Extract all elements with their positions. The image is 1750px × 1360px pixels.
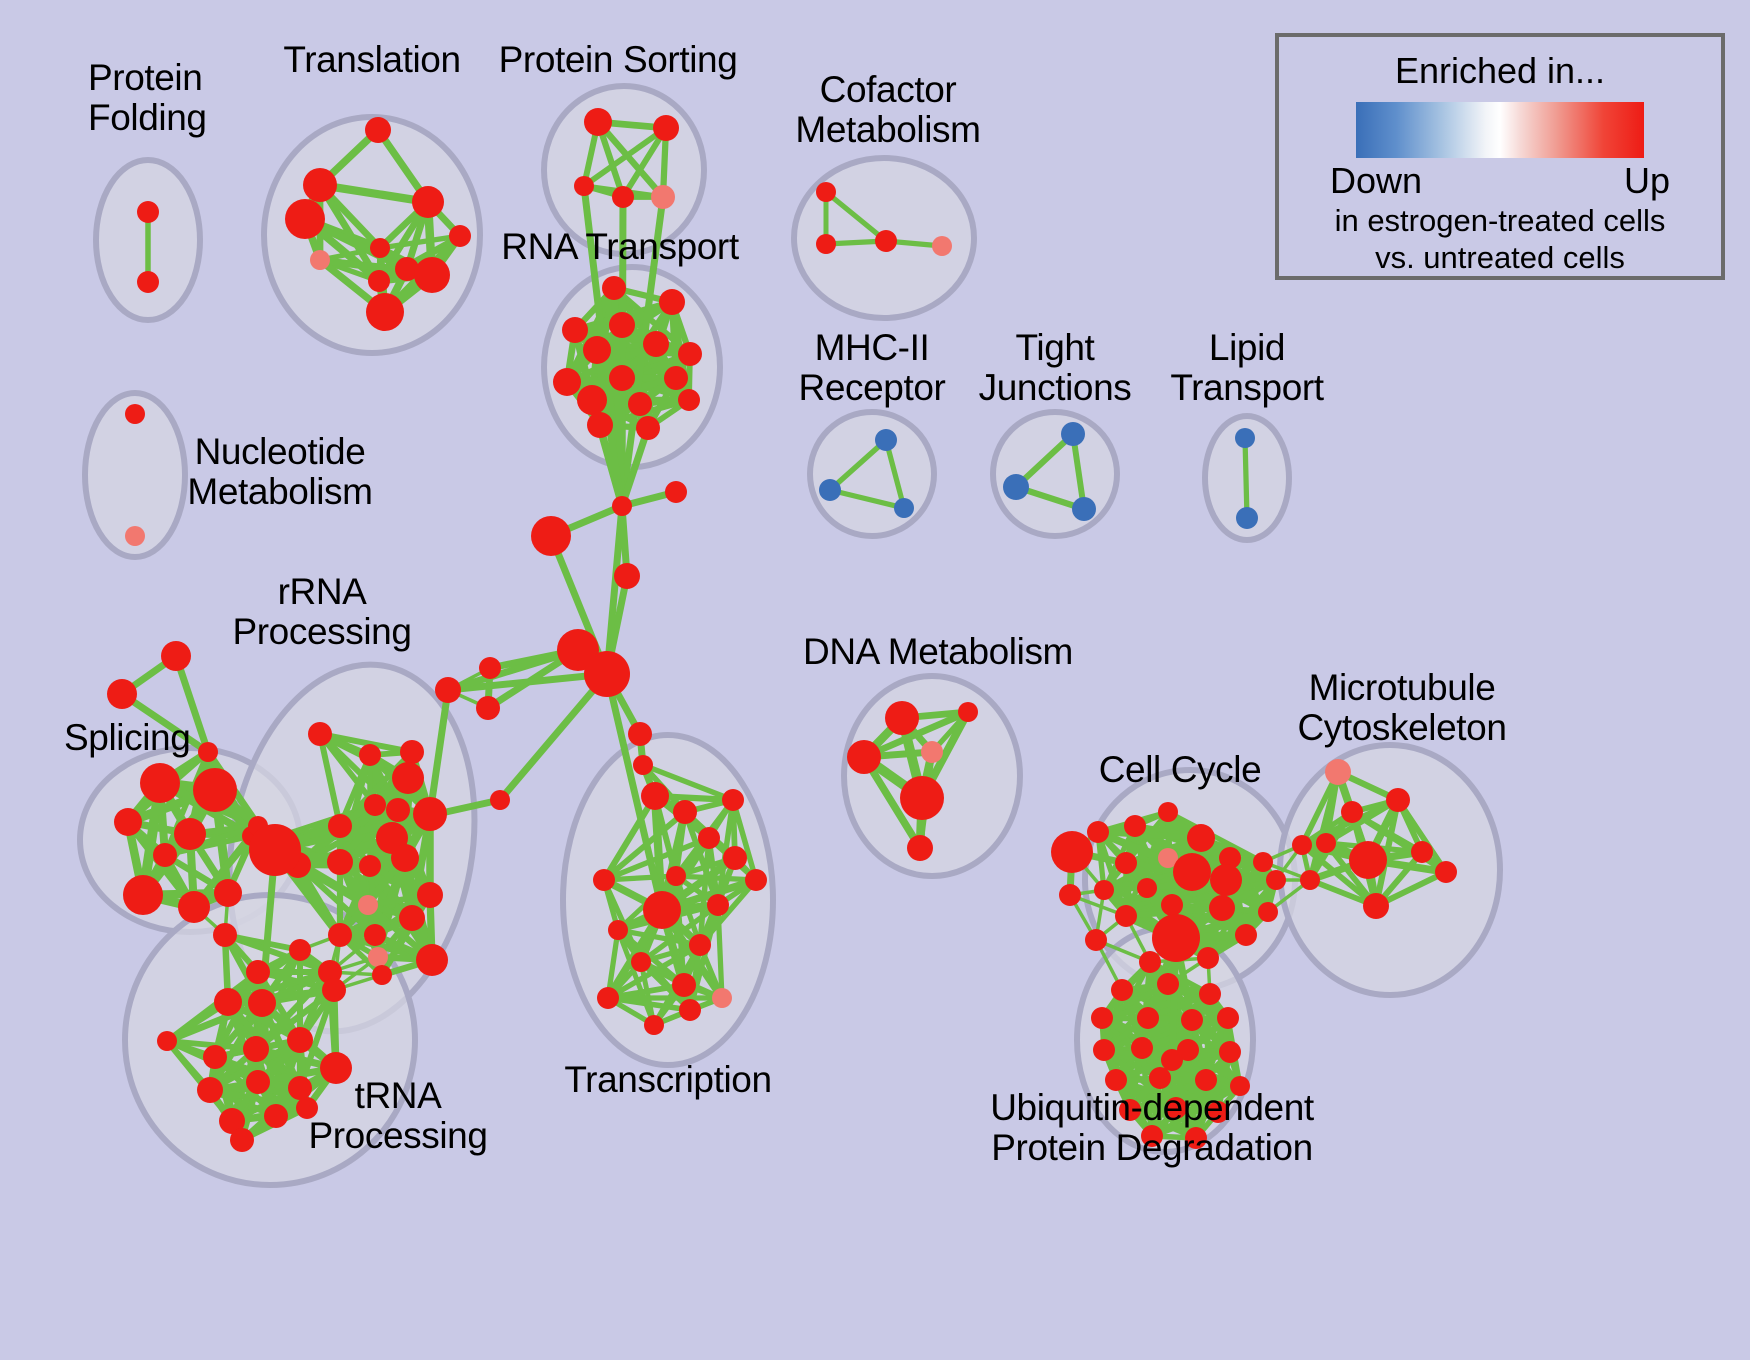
network-node: [643, 331, 669, 357]
network-node: [689, 934, 711, 956]
network-node: [289, 939, 311, 961]
cluster-label-tight-junctions: TightJunctions: [979, 328, 1132, 408]
network-node: [932, 236, 952, 256]
network-node: [1139, 951, 1161, 973]
network-node: [653, 115, 679, 141]
network-node: [368, 947, 388, 967]
network-node: [1253, 852, 1273, 872]
cluster-label-line: Junctions: [979, 368, 1132, 408]
network-node: [1435, 861, 1457, 883]
network-node: [391, 844, 419, 872]
network-node: [531, 516, 571, 556]
cluster-label-lipid-transport: LipidTransport: [1170, 328, 1323, 408]
network-node: [1235, 428, 1255, 448]
network-node: [1111, 979, 1133, 1001]
cluster-label-protein-folding: ProteinFolding: [88, 58, 207, 138]
network-node: [123, 875, 163, 915]
network-node: [1085, 929, 1107, 951]
network-node: [1131, 1037, 1153, 1059]
network-node: [633, 755, 653, 775]
network-node: [1158, 802, 1178, 822]
network-node: [553, 368, 581, 396]
network-node: [365, 117, 391, 143]
cluster-label-line: Ubiquitin-dependent: [990, 1088, 1314, 1128]
cluster-label-line: Splicing: [64, 718, 190, 758]
network-node: [1210, 864, 1242, 896]
network-node: [609, 365, 635, 391]
network-node: [386, 798, 410, 822]
network-node: [449, 225, 471, 247]
network-node: [1003, 474, 1029, 500]
network-node: [157, 1031, 177, 1051]
network-node: [400, 740, 424, 764]
network-node: [587, 412, 613, 438]
network-node: [137, 201, 159, 223]
network-node: [1219, 1041, 1241, 1063]
network-node: [1093, 1039, 1115, 1061]
cluster-label-rrna-processing: rRNAProcessing: [232, 572, 411, 652]
network-node: [285, 199, 325, 239]
network-node: [125, 404, 145, 424]
network-node: [249, 824, 301, 876]
network-node: [364, 924, 386, 946]
network-node: [672, 973, 696, 997]
network-node: [1199, 983, 1221, 1005]
network-node: [248, 989, 276, 1017]
network-node: [322, 978, 346, 1002]
network-node: [174, 818, 206, 850]
network-node: [1087, 821, 1109, 843]
network-node: [1061, 422, 1085, 446]
network-node: [664, 366, 688, 390]
network-node: [1181, 1009, 1203, 1031]
cluster-label-line: rRNA: [232, 572, 411, 612]
network-node: [577, 385, 607, 415]
network-node: [907, 835, 933, 861]
cluster-label-line: Cytoskeleton: [1297, 708, 1506, 748]
network-node: [1072, 497, 1096, 521]
network-node: [636, 416, 660, 440]
cluster-label-line: Transport: [1170, 368, 1323, 408]
network-node: [894, 498, 914, 518]
cluster-label-line: Lipid: [1170, 328, 1323, 368]
network-node: [193, 768, 237, 812]
network-node: [875, 429, 897, 451]
network-node: [609, 312, 635, 338]
cluster-label-line: MHC-II: [799, 328, 946, 368]
network-node: [614, 563, 640, 589]
network-node: [816, 182, 836, 202]
cluster-label-splicing: Splicing: [64, 718, 190, 758]
network-node: [679, 999, 701, 1021]
cluster-label-line: RNA Transport: [501, 227, 738, 267]
cluster-label-line: Protein: [88, 58, 207, 98]
network-node: [413, 797, 447, 831]
network-node: [1115, 852, 1137, 874]
network-node: [178, 891, 210, 923]
network-node: [612, 496, 632, 516]
network-node: [1051, 831, 1093, 873]
network-node: [628, 392, 652, 416]
network-node: [1341, 801, 1363, 823]
network-node: [1115, 905, 1137, 927]
network-node: [659, 289, 685, 315]
cluster-label-line: Tight: [979, 328, 1132, 368]
cluster-label-line: Microtubule: [1297, 668, 1506, 708]
network-node: [608, 920, 628, 940]
cluster-label-line: Protein Sorting: [499, 40, 738, 80]
network-node: [416, 944, 448, 976]
network-node: [137, 271, 159, 293]
network-node: [125, 526, 145, 546]
network-node: [490, 790, 510, 810]
network-node: [1209, 895, 1235, 921]
legend-down-label: Down: [1330, 160, 1422, 202]
cluster-label-line: Transcription: [564, 1060, 771, 1100]
network-node: [243, 1036, 269, 1062]
network-node: [602, 276, 626, 300]
network-node: [308, 722, 332, 746]
network-node: [900, 776, 944, 820]
network-node: [214, 988, 242, 1016]
network-node: [1292, 835, 1312, 855]
cluster-label-line: Translation: [283, 40, 460, 80]
network-node: [1161, 1049, 1183, 1071]
cluster-label-translation: Translation: [283, 40, 460, 80]
network-node: [1091, 1007, 1113, 1029]
cluster-label-line: Receptor: [799, 368, 946, 408]
network-node: [1161, 894, 1183, 916]
network-node: [476, 696, 500, 720]
network-node: [665, 481, 687, 503]
cluster-ellipse-tight-junctions: [993, 412, 1117, 536]
network-node: [246, 960, 270, 984]
network-node: [230, 1128, 254, 1152]
network-node: [612, 186, 634, 208]
network-node: [723, 846, 747, 870]
network-node: [435, 677, 461, 703]
cluster-label-line: Metabolism: [795, 110, 980, 150]
network-node: [678, 389, 700, 411]
network-node: [1235, 924, 1257, 946]
network-node: [287, 1027, 313, 1053]
network-node: [921, 741, 943, 763]
legend-color-bar: [1356, 102, 1644, 158]
network-node: [198, 742, 218, 762]
network-node: [214, 879, 242, 907]
network-node: [479, 657, 501, 679]
network-node: [631, 952, 651, 972]
network-node: [1124, 815, 1146, 837]
cluster-label-nucleotide-metabolism: NucleotideMetabolism: [187, 432, 372, 512]
legend-up-label: Up: [1624, 160, 1670, 202]
network-node: [1325, 759, 1351, 785]
cluster-label-line: Cell Cycle: [1099, 750, 1262, 790]
network-node: [1316, 833, 1336, 853]
network-node: [745, 869, 767, 891]
network-node: [246, 1070, 270, 1094]
cluster-label-line: Metabolism: [187, 472, 372, 512]
network-node: [1137, 1007, 1159, 1029]
network-node: [1157, 973, 1179, 995]
cluster-label-ubiquitin-protein-degradation: Ubiquitin-dependentProtein Degradation: [990, 1088, 1314, 1168]
network-node: [358, 895, 378, 915]
network-node: [584, 108, 612, 136]
network-node: [328, 814, 352, 838]
network-node: [562, 317, 588, 343]
network-node: [1187, 824, 1215, 852]
network-node: [412, 186, 444, 218]
network-node: [1197, 947, 1219, 969]
network-node: [1152, 914, 1200, 962]
network-node: [722, 789, 744, 811]
network-node: [327, 849, 353, 875]
network-node: [1363, 893, 1389, 919]
network-node: [1173, 853, 1211, 891]
network-node: [651, 185, 675, 209]
network-node: [1258, 902, 1278, 922]
network-node: [213, 923, 237, 947]
network-node: [414, 257, 450, 293]
network-node: [366, 293, 404, 331]
cluster-label-trna-processing: tRNAProcessing: [308, 1076, 487, 1156]
cluster-label-line: Processing: [232, 612, 411, 652]
cluster-label-protein-sorting: Protein Sorting: [499, 40, 738, 80]
network-node: [359, 855, 381, 877]
cluster-label-line: Protein Degradation: [990, 1128, 1314, 1168]
network-node: [644, 1015, 664, 1035]
network-node: [114, 808, 142, 836]
network-node: [593, 869, 615, 891]
network-node: [1137, 878, 1157, 898]
network-node: [1349, 841, 1387, 879]
network-node: [707, 894, 729, 916]
cluster-label-line: Folding: [88, 98, 207, 138]
network-node: [1300, 870, 1320, 890]
cluster-ellipse-mhc-ii-receptor: [810, 412, 934, 536]
network-node: [819, 479, 841, 501]
cluster-label-line: DNA Metabolism: [803, 632, 1073, 672]
network-node: [372, 965, 392, 985]
network-node: [417, 882, 443, 908]
cluster-label-cofactor-metabolism: CofactorMetabolism: [795, 70, 980, 150]
network-node: [1266, 870, 1286, 890]
network-node: [264, 1104, 288, 1128]
cluster-label-microtubule-cytoskeleton: MicrotubuleCytoskeleton: [1297, 668, 1506, 748]
cluster-label-cell-cycle: Cell Cycle: [1099, 750, 1262, 790]
network-node: [370, 238, 390, 258]
network-node: [1094, 880, 1114, 900]
network-node: [1236, 507, 1258, 529]
network-node: [1386, 788, 1410, 812]
cluster-label-line: tRNA: [308, 1076, 487, 1116]
network-node: [643, 891, 681, 929]
cluster-label-line: Processing: [308, 1116, 487, 1156]
network-node: [958, 702, 978, 722]
network-node: [1217, 1007, 1239, 1029]
network-node: [816, 234, 836, 254]
legend-title: Enriched in...: [1279, 50, 1721, 92]
network-node: [628, 722, 652, 746]
cluster-label-mhc-ii-receptor: MHC-IIReceptor: [799, 328, 946, 408]
network-node: [140, 763, 180, 803]
network-node: [1149, 1067, 1171, 1089]
network-edge: [1245, 438, 1247, 518]
network-figure: ProteinFoldingTranslationProtein Sorting…: [0, 0, 1750, 1360]
network-node: [574, 176, 594, 196]
legend-subtitle-line1: in estrogen-treated cells: [1279, 204, 1721, 239]
network-node: [310, 250, 330, 270]
network-node: [584, 651, 630, 697]
network-node: [678, 342, 702, 366]
network-node: [203, 1045, 227, 1069]
cluster-label-transcription: Transcription: [564, 1060, 771, 1100]
network-node: [885, 701, 919, 735]
network-node: [359, 744, 381, 766]
network-node: [698, 827, 720, 849]
network-node: [399, 905, 425, 931]
cluster-label-line: Nucleotide: [187, 432, 372, 472]
network-node: [153, 843, 177, 867]
legend-panel: Enriched in... Down Up in estrogen-treat…: [1275, 33, 1725, 280]
network-node: [597, 987, 619, 1009]
network-node: [875, 230, 897, 252]
cluster-label-line: Cofactor: [795, 70, 980, 110]
network-node: [368, 270, 390, 292]
cluster-label-rna-transport: RNA Transport: [501, 227, 738, 267]
network-node: [1059, 884, 1081, 906]
network-node: [107, 679, 137, 709]
network-node: [197, 1077, 223, 1103]
network-node: [328, 923, 352, 947]
network-node: [1411, 841, 1433, 863]
network-node: [583, 336, 611, 364]
network-node: [161, 641, 191, 671]
legend-subtitle-line2: vs. untreated cells: [1279, 241, 1721, 276]
cluster-label-dna-metabolism: DNA Metabolism: [803, 632, 1073, 672]
network-node: [392, 762, 424, 794]
network-node: [666, 866, 686, 886]
network-node: [712, 988, 732, 1008]
network-node: [303, 168, 337, 202]
network-node: [641, 782, 669, 810]
network-node: [847, 740, 881, 774]
network-node: [673, 800, 697, 824]
network-node: [364, 794, 386, 816]
